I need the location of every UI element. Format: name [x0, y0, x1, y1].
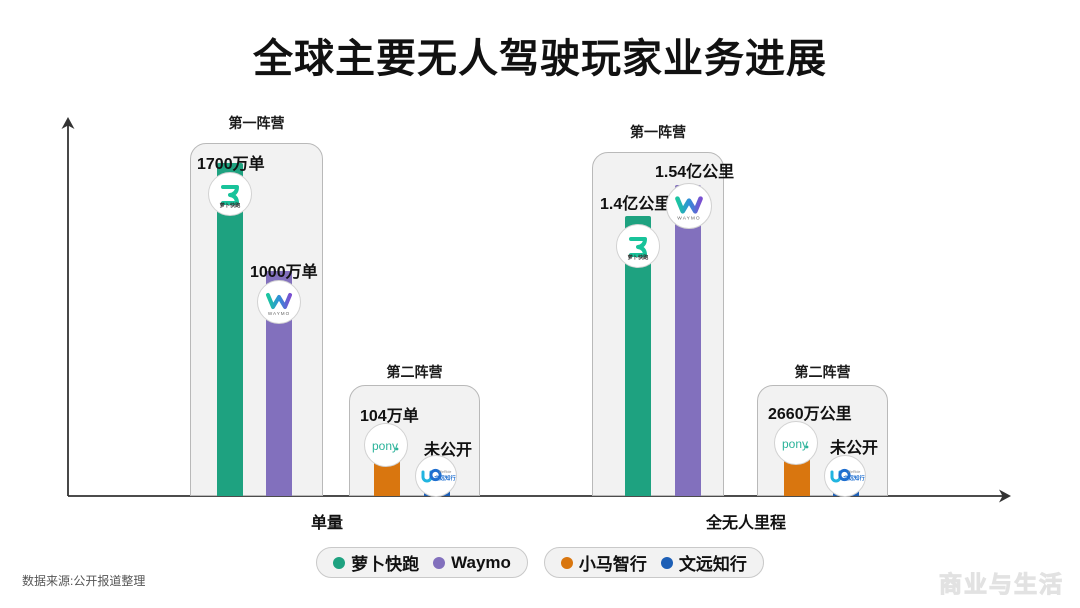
svg-text:WeRide: WeRide — [848, 470, 861, 474]
chart-axes — [0, 0, 1080, 608]
svg-text:萝卜快跑: 萝卜快跑 — [628, 253, 650, 261]
apollo-go-logo-icon: 萝卜快跑 — [208, 172, 252, 216]
group-label-tier2-miles: 第二阵营 — [757, 362, 888, 382]
chart-canvas: 全球主要无人驾驶玩家业务进展 第一阵营 第二阵营 第一阵营 第二阵营 1700万… — [0, 0, 1080, 608]
group-label-tier1-orders: 第一阵营 — [190, 113, 323, 133]
weride-logo-icon: WeRide 文远知行 — [415, 455, 457, 497]
svg-text:WAYMO: WAYMO — [268, 311, 290, 316]
legend-dot-icon — [561, 557, 573, 569]
source-note: 数据来源:公开报道整理 — [22, 572, 145, 589]
weride-logo-icon: WeRide 文远知行 — [824, 455, 866, 497]
waymo-logo-icon: WAYMO — [666, 183, 712, 229]
value-label-pony-miles: 2660万公里 — [768, 400, 852, 424]
legend-label-pony: 小马智行 — [579, 550, 647, 575]
svg-text:文远知行: 文远知行 — [843, 474, 865, 482]
watermark: 商业与生活 — [939, 565, 1064, 599]
svg-text:WAYMO: WAYMO — [677, 216, 700, 222]
legend-pill-tier2: 小马智行 文远知行 — [544, 547, 764, 578]
group-label-tier2-orders: 第二阵营 — [349, 362, 480, 382]
legend-dot-icon — [333, 557, 345, 569]
pony-ai-logo-icon: pony — [364, 423, 408, 467]
legend-pill-tier1: 萝卜快跑 Waymo — [316, 547, 528, 578]
group-label-tier1-miles: 第一阵营 — [592, 122, 724, 142]
chart-legend: 萝卜快跑 Waymo 小马智行 文远知行 — [0, 547, 1080, 578]
svg-text:文远知行: 文远知行 — [434, 474, 456, 482]
value-label-waymo-miles: 1.54亿公里 — [655, 158, 734, 182]
svg-text:萝卜快跑: 萝卜快跑 — [220, 201, 242, 209]
axis-category-orders: 单量 — [311, 509, 343, 533]
value-label-weride-miles: 未公开 — [830, 434, 878, 458]
axis-category-miles: 全无人里程 — [706, 509, 786, 533]
legend-item-apollo[interactable]: 萝卜快跑 — [333, 550, 419, 575]
bar-waymo-miles[interactable] — [675, 185, 701, 496]
value-label-apollo-orders: 1700万单 — [197, 150, 265, 174]
legend-label-waymo: Waymo — [451, 553, 511, 573]
page-title: 全球主要无人驾驶玩家业务进展 — [0, 26, 1080, 84]
svg-text:pony: pony — [782, 437, 808, 451]
legend-dot-icon — [433, 557, 445, 569]
svg-text:pony: pony — [372, 439, 398, 453]
legend-item-waymo[interactable]: Waymo — [433, 553, 511, 573]
legend-dot-icon — [661, 557, 673, 569]
value-label-apollo-miles: 1.4亿公里 — [600, 190, 670, 214]
waymo-logo-icon: WAYMO — [257, 280, 301, 324]
legend-label-apollo: 萝卜快跑 — [351, 550, 419, 575]
legend-item-pony[interactable]: 小马智行 — [561, 550, 647, 575]
apollo-go-logo-icon: 萝卜快跑 — [616, 224, 660, 268]
pony-ai-logo-icon: pony — [774, 421, 818, 465]
svg-text:WeRide: WeRide — [439, 470, 452, 474]
value-label-waymo-orders: 1000万单 — [250, 258, 318, 282]
legend-label-weride: 文远知行 — [679, 550, 747, 575]
legend-item-weride[interactable]: 文远知行 — [661, 550, 747, 575]
